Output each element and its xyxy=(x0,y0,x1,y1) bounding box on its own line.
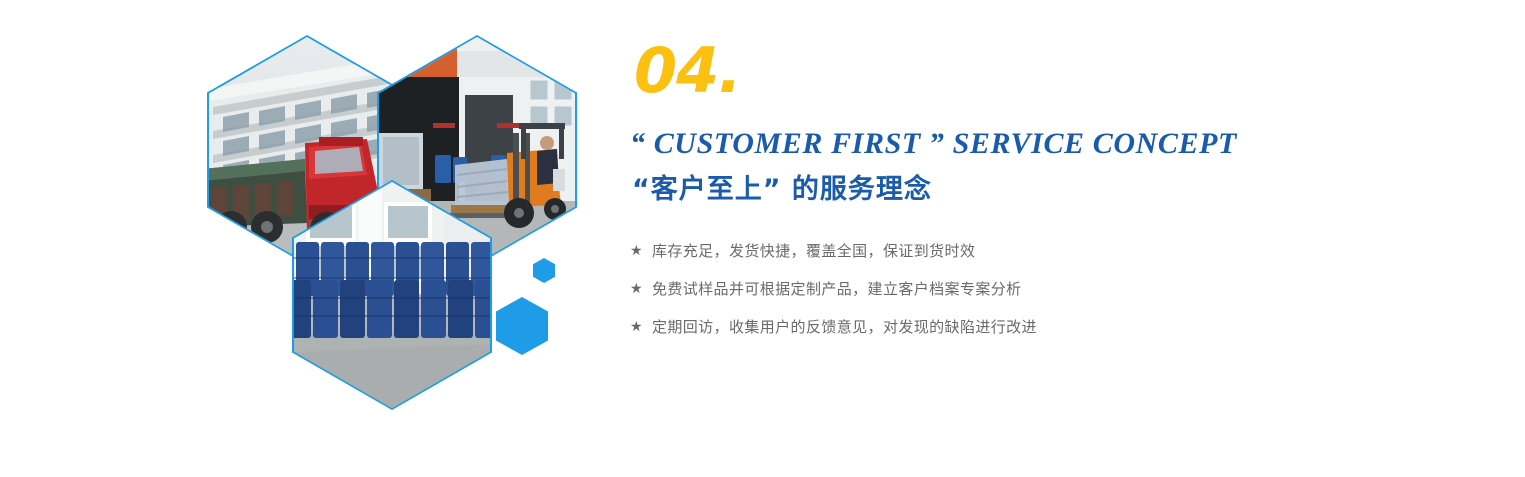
promo-banner: 04. “ CUSTOMER FIRST ” SERVICE CONCEPT “… xyxy=(0,0,1525,477)
small-blue-hexagon xyxy=(533,258,555,283)
feature-list: ★ 库存充足，发货快捷，覆盖全国，保证到货时效 ★ 免费试样品并可根据定制产品，… xyxy=(630,241,1490,338)
star-icon: ★ xyxy=(630,241,643,262)
star-icon: ★ xyxy=(630,279,643,300)
content-column: 04. “ CUSTOMER FIRST ” SERVICE CONCEPT “… xyxy=(630,40,1490,338)
list-item: ★ 定期回访，收集用户的反馈意见，对发现的缺陷进行改进 xyxy=(630,317,1490,339)
list-item-label: 免费试样品并可根据定制产品，建立客户档案专案分析 xyxy=(652,279,1022,301)
section-title-english: “ CUSTOMER FIRST ” SERVICE CONCEPT xyxy=(630,126,1490,162)
list-item: ★ 库存充足，发货快捷，覆盖全国，保证到货时效 xyxy=(630,241,1490,263)
list-item: ★ 免费试样品并可根据定制产品，建立客户档案专案分析 xyxy=(630,279,1490,301)
list-item-label: 库存充足，发货快捷，覆盖全国，保证到货时效 xyxy=(652,241,975,263)
star-icon: ★ xyxy=(630,317,643,338)
hexagon-photo-gallery xyxy=(195,15,575,395)
section-number: 04. xyxy=(634,40,1490,102)
large-blue-hexagon xyxy=(496,297,548,355)
list-item-label: 定期回访，收集用户的反馈意见，对发现的缺陷进行改进 xyxy=(652,317,1037,339)
section-title-chinese: “客户至上” 的服务理念 xyxy=(632,172,1490,207)
